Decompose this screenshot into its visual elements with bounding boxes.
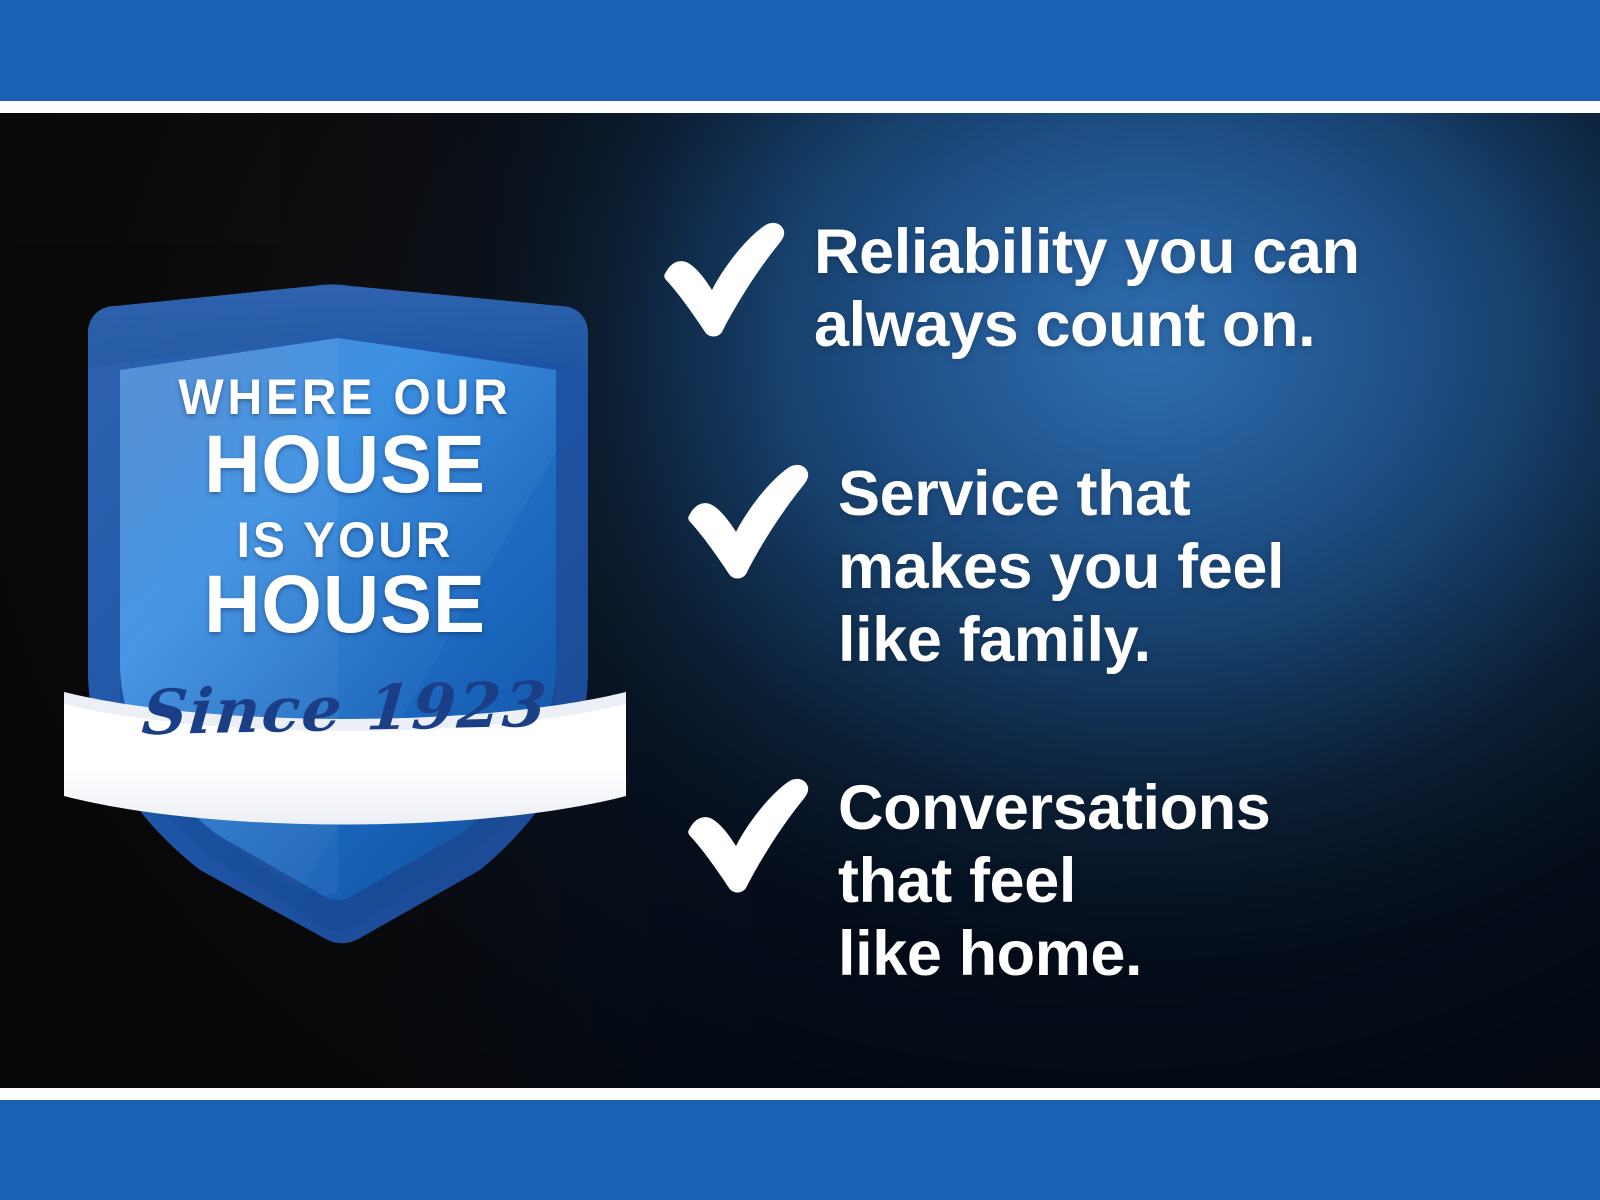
checkmark-icon bbox=[684, 776, 810, 894]
list-item: Service that makes you feel like family. bbox=[684, 458, 1284, 677]
checkmark-icon bbox=[684, 462, 810, 580]
list-item-label: Conversations that feel like home. bbox=[838, 772, 1270, 991]
list-item-label: Reliability you can always count on. bbox=[814, 216, 1360, 362]
promotional-graphic: WHERE OUR HOUSE IS YOUR HOUSE Since 1923… bbox=[0, 0, 1600, 1200]
list-item: Conversations that feel like home. bbox=[684, 772, 1270, 991]
bottom-white-divider bbox=[0, 1088, 1600, 1100]
value-proposition-list: Reliability you can always count on. Ser… bbox=[660, 180, 1540, 1040]
checkmark-icon bbox=[660, 220, 786, 338]
bottom-brand-bar bbox=[0, 1100, 1600, 1200]
list-item-label: Service that makes you feel like family. bbox=[838, 458, 1284, 677]
top-white-divider bbox=[0, 101, 1600, 113]
shield-badge: WHERE OUR HOUSE IS YOUR HOUSE Since 1923 bbox=[60, 272, 630, 952]
list-item: Reliability you can always count on. bbox=[660, 216, 1360, 362]
top-brand-bar bbox=[0, 0, 1600, 101]
